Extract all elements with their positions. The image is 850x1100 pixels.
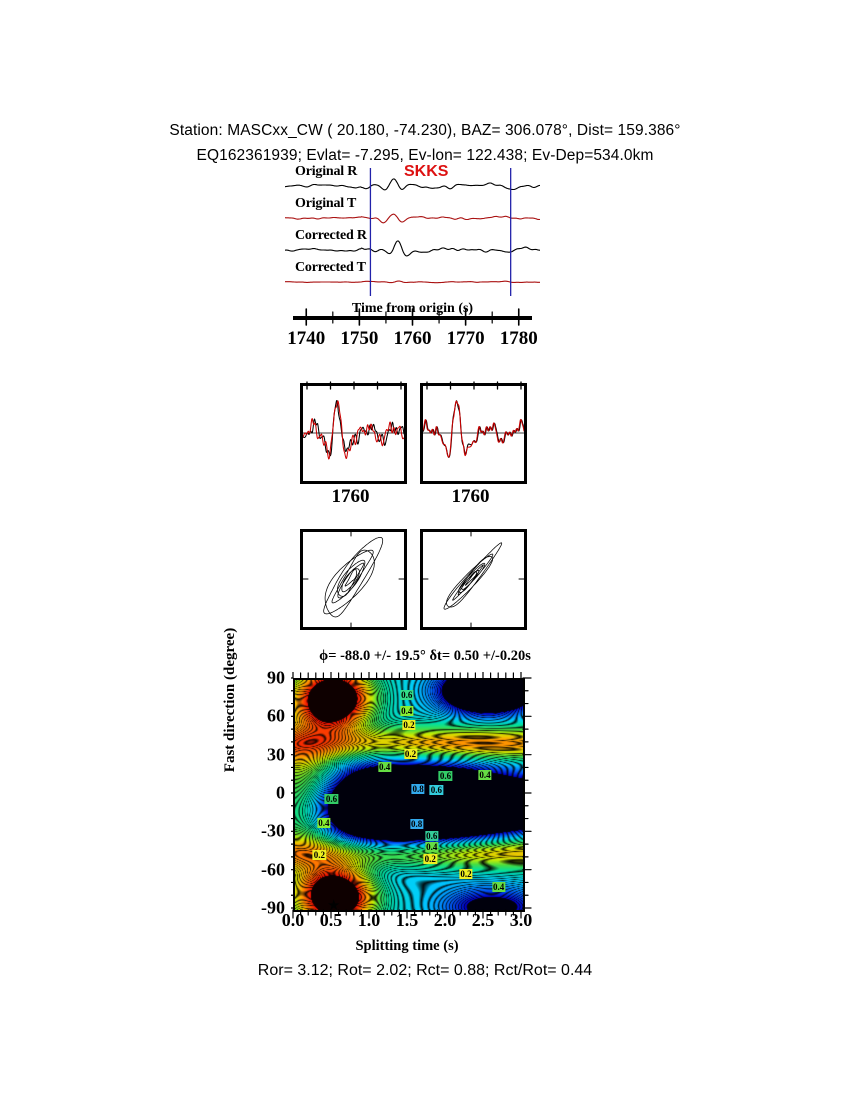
comparison-waveform-svg — [303, 386, 404, 481]
waveform-trace-label: Corrected R — [295, 228, 367, 244]
contour-x-tick-label: 0.5 — [320, 910, 343, 931]
waveform-comparison-box-original — [300, 383, 407, 484]
contour-x-tick-label: 0.0 — [282, 910, 305, 931]
particle-motion-svg — [303, 532, 404, 627]
contour-y-tick-label: 90 — [267, 668, 285, 689]
contour-y-tick-label: 60 — [267, 706, 285, 727]
time-axis-title: Time from origin (s) — [285, 301, 540, 317]
contour-y-tick-label: -60 — [261, 859, 285, 880]
particle-motion-box-original — [300, 529, 407, 630]
waveform-panel: Original ROriginal TCorrected RCorrected… — [285, 168, 540, 298]
contour-level-label: 0.4 — [492, 882, 505, 892]
contour-level-label: 0.6 — [430, 785, 443, 795]
contour-level-label: 0.2 — [424, 854, 437, 864]
error-surface-contour-plot: ★0.60.40.20.20.40.60.40.80.60.60.40.80.6… — [293, 678, 525, 912]
contour-y-axis-label: Fast direction (degree) — [222, 700, 244, 890]
time-tick-label: 1770 — [447, 328, 485, 350]
station-info-line: Station: MASCxx_CW ( 20.180, -74.230), B… — [0, 118, 850, 143]
contour-level-label: 0.4 — [400, 706, 413, 716]
contour-level-label: 0.2 — [459, 869, 472, 879]
contour-level-label: 0.6 — [439, 771, 452, 781]
time-tick-label: 1780 — [500, 328, 538, 350]
comparison-box-label-2: 1760 — [417, 486, 524, 508]
waveform-trace-row: Corrected T — [285, 264, 540, 296]
plot-header: Station: MASCxx_CW ( 20.180, -74.230), B… — [0, 118, 850, 168]
particle-motion-box-corrected — [420, 529, 527, 630]
comparison-box-ticks — [303, 377, 404, 386]
contour-level-label: 0.2 — [402, 720, 415, 730]
contour-level-label: 0.6 — [425, 831, 438, 841]
waveform-trace-label: Corrected T — [295, 260, 366, 276]
contour-x-tick-label: 2.5 — [472, 910, 495, 931]
comparison-box-label-1: 1760 — [297, 486, 404, 508]
contour-y-tick-label: 30 — [267, 744, 285, 765]
contour-y-tick-label: -30 — [261, 821, 285, 842]
contour-x-tick-label: 2.0 — [434, 910, 457, 931]
contour-level-label: 0.4 — [425, 842, 438, 852]
contour-level-label: 0.2 — [313, 850, 326, 860]
waveform-trace-label: Original T — [295, 196, 356, 212]
waveform-trace-label: Original R — [295, 164, 357, 180]
contour-y-tick-label: 0 — [276, 783, 285, 804]
contour-level-label: 0.4 — [478, 770, 491, 780]
time-tick-label: 1760 — [394, 328, 432, 350]
contour-level-label: 0.4 — [378, 762, 391, 772]
contour-level-label: 0.4 — [317, 818, 330, 828]
waveform-comparison-box-corrected — [420, 383, 527, 484]
contour-y-axis-label-text: Fast direction (degree) — [222, 605, 239, 795]
comparison-box-ticks — [423, 377, 524, 386]
time-tick-label: 1750 — [340, 328, 378, 350]
contour-level-label: 0.8 — [411, 784, 424, 794]
contour-x-tick-label: 1.5 — [396, 910, 419, 931]
particle-motion-svg — [423, 532, 524, 627]
contour-x-axis-label: Splitting time (s) — [293, 938, 521, 955]
splitting-result-label: ϕ= -88.0 +/- 19.5° δt= 0.50 +/-0.20s — [0, 648, 850, 665]
contour-level-label: 0.2 — [404, 749, 417, 759]
comparison-waveform-svg — [423, 386, 524, 481]
contour-x-tick-label: 1.0 — [358, 910, 381, 931]
contour-x-tick-label: 3.0 — [510, 910, 533, 931]
contour-level-label: 0.8 — [410, 819, 423, 829]
contour-level-label: 0.6 — [325, 794, 338, 804]
contour-level-label: 0.6 — [400, 690, 413, 700]
quality-metrics-footer: Ror= 3.12; Rot= 2.02; Rct= 0.88; Rct/Rot… — [0, 962, 850, 980]
contour-y-tick-labels: -90-60-300306090 — [245, 670, 289, 915]
time-tick-label: 1740 — [287, 328, 325, 350]
phase-label-skks: SKKS — [404, 163, 448, 181]
